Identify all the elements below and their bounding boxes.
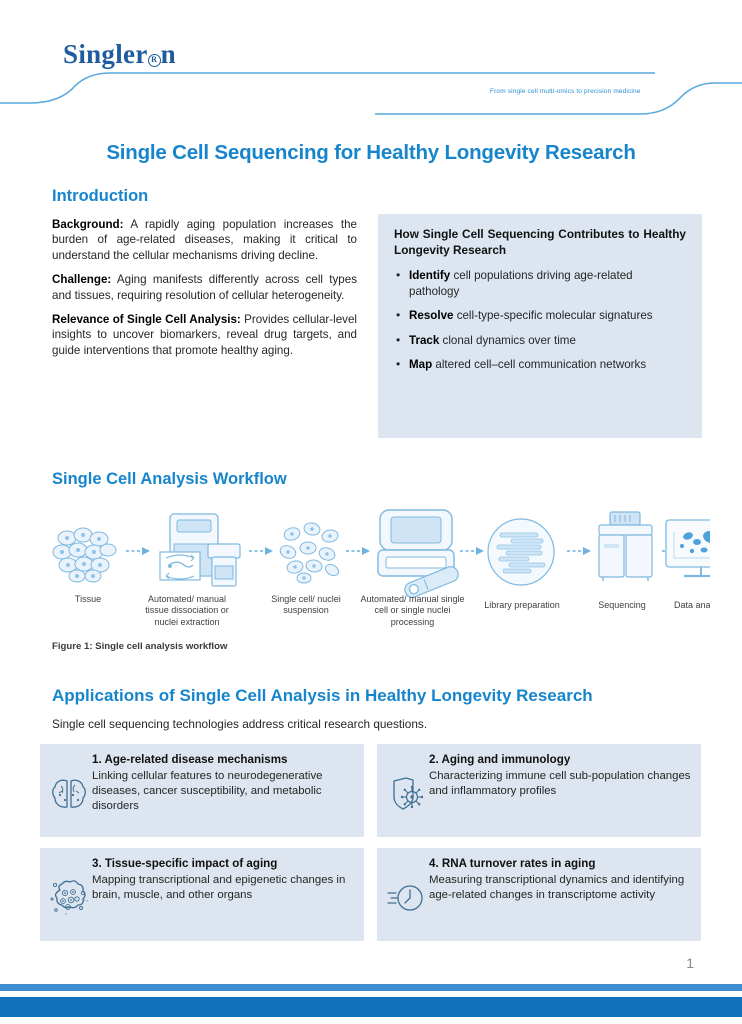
- application-card-3-text: Mapping transcriptional and epigenetic c…: [92, 873, 354, 903]
- workflow-arrow-2: [249, 547, 273, 555]
- paragraph-challenge-lead: Challenge:: [52, 273, 111, 286]
- library-preparation-icon: [488, 519, 554, 585]
- bullet-identify-lead: Identify: [409, 269, 450, 282]
- data-analysis-monitor-icon: [666, 520, 710, 576]
- bullet-resolve-lead: Resolve: [409, 309, 453, 322]
- dissociation-instrument-icon: [160, 514, 240, 586]
- callout-bullet-track: Track clonal dynamics over time: [394, 333, 686, 349]
- workflow-arrow-1: [126, 547, 150, 555]
- section-heading-introduction: Introduction: [52, 187, 148, 206]
- application-card-1-body: 1. Age-related disease mechanisms Linkin…: [90, 753, 354, 813]
- section-heading-workflow: Single Cell Analysis Workflow: [52, 470, 287, 489]
- workflow-label-library: Library preparation: [483, 600, 561, 611]
- callout-bullet-resolve: Resolve cell-type-specific molecular sig…: [394, 308, 686, 324]
- application-card-1: 1. Age-related disease mechanisms Linkin…: [40, 744, 364, 837]
- workflow-arrow-3: [346, 547, 370, 555]
- workflow-label-tissue: Tissue: [58, 594, 118, 605]
- tissue-cells-icon: [48, 869, 90, 927]
- singleron-logo: SinglerRn: [63, 39, 176, 70]
- paragraph-relevance-lead: Relevance of Single Cell Analysis:: [52, 313, 241, 326]
- logo-o-mark: R: [148, 54, 161, 67]
- callout-bullet-list: Identify cell populations driving age-re…: [394, 268, 686, 373]
- sequencer-icon: [599, 512, 652, 581]
- application-card-1-text: Linking cellular features to neurodegene…: [92, 769, 354, 813]
- workflow-label-sequencing: Sequencing: [583, 600, 661, 611]
- bullet-map-lead: Map: [409, 358, 432, 371]
- application-card-4: 4. RNA turnover rates in aging Measuring…: [377, 848, 701, 941]
- application-card-4-text: Measuring transcriptional dynamics and i…: [429, 873, 691, 903]
- application-card-2-text: Characterizing immune cell sub-populatio…: [429, 769, 691, 799]
- contributes-callout-box: How Single Cell Sequencing Contributes t…: [378, 214, 702, 438]
- callout-title: How Single Cell Sequencing Contributes t…: [394, 227, 686, 258]
- application-card-2: 2. Aging and immunology Characterizing i…: [377, 744, 701, 837]
- application-card-3-body: 3. Tissue-specific impact of aging Mappi…: [90, 857, 354, 903]
- bullet-resolve-text: cell-type-specific molecular signatures: [453, 309, 652, 322]
- application-card-2-body: 2. Aging and immunology Characterizing i…: [427, 753, 691, 799]
- header-tagline: From single cell multi-omics to precisio…: [490, 88, 641, 95]
- application-card-1-title: 1. Age-related disease mechanisms: [92, 753, 354, 766]
- shield-immune-icon: [385, 765, 427, 823]
- section-heading-applications: Applications of Single Cell Analysis in …: [52, 686, 593, 706]
- callout-bullet-identify: Identify cell populations driving age-re…: [394, 268, 686, 299]
- workflow-label-suspension: Single cell/ nuclei suspension: [268, 594, 344, 617]
- footer-bar-light: [0, 984, 742, 991]
- application-card-4-title: 4. RNA turnover rates in aging: [429, 857, 691, 870]
- paragraph-background-lead: Background:: [52, 218, 124, 231]
- application-card-2-title: 2. Aging and immunology: [429, 753, 691, 766]
- application-card-3: 3. Tissue-specific impact of aging Mappi…: [40, 848, 364, 941]
- workflow-label-dissociation: Automated/ manual tissue dissociation or…: [138, 594, 236, 628]
- paragraph-relevance: Relevance of Single Cell Analysis: Provi…: [52, 312, 357, 358]
- card-row-2: 3. Tissue-specific impact of aging Mappi…: [40, 848, 702, 941]
- page-title: Single Cell Sequencing for Healthy Longe…: [0, 141, 742, 165]
- workflow-label-data-analysis: Data analysis: [660, 600, 710, 611]
- bullet-map-text: altered cell–cell communication networks: [432, 358, 646, 371]
- page-header: SinglerRn From single cell multi-omics t…: [0, 0, 742, 120]
- paragraph-background: Background: A rapidly aging population i…: [52, 217, 357, 263]
- workflow-arrow-4: [460, 547, 484, 555]
- brain-icon: [48, 765, 90, 823]
- single-cell-processing-instrument-icon: [378, 510, 460, 599]
- single-cell-suspension-icon: [278, 521, 340, 583]
- logo-text: Singler: [63, 39, 148, 70]
- tissue-cluster-icon: [53, 528, 116, 582]
- workflow-label-processing: Automated/ manual single cell or single …: [360, 594, 465, 628]
- workflow-arrow-5: [567, 547, 591, 555]
- document-page: SinglerRn From single cell multi-omics t…: [0, 0, 742, 1024]
- paragraph-challenge: Challenge: Aging manifests differently a…: [52, 272, 357, 303]
- callout-bullet-map: Map altered cell–cell communication netw…: [394, 357, 686, 373]
- applications-card-grid: 1. Age-related disease mechanisms Linkin…: [40, 744, 702, 952]
- figure-caption: Figure 1: Single cell analysis workflow: [52, 641, 227, 652]
- application-card-3-title: 3. Tissue-specific impact of aging: [92, 857, 354, 870]
- workflow-diagram: Tissue Automated/ manual tissue dissocia…: [40, 508, 710, 633]
- applications-lead-text: Single cell sequencing technologies addr…: [52, 717, 427, 731]
- clock-speed-icon: [385, 869, 427, 927]
- bullet-track-text: clonal dynamics over time: [439, 334, 576, 347]
- header-curve-lines: [0, 70, 742, 120]
- introduction-body: Background: A rapidly aging population i…: [52, 217, 357, 367]
- card-row-1: 1. Age-related disease mechanisms Linkin…: [40, 744, 702, 837]
- bullet-track-lead: Track: [409, 334, 439, 347]
- logo-suffix: n: [161, 39, 176, 70]
- footer-bar-dark: [0, 997, 742, 1017]
- page-number: 1: [686, 955, 694, 971]
- application-card-4-body: 4. RNA turnover rates in aging Measuring…: [427, 857, 691, 903]
